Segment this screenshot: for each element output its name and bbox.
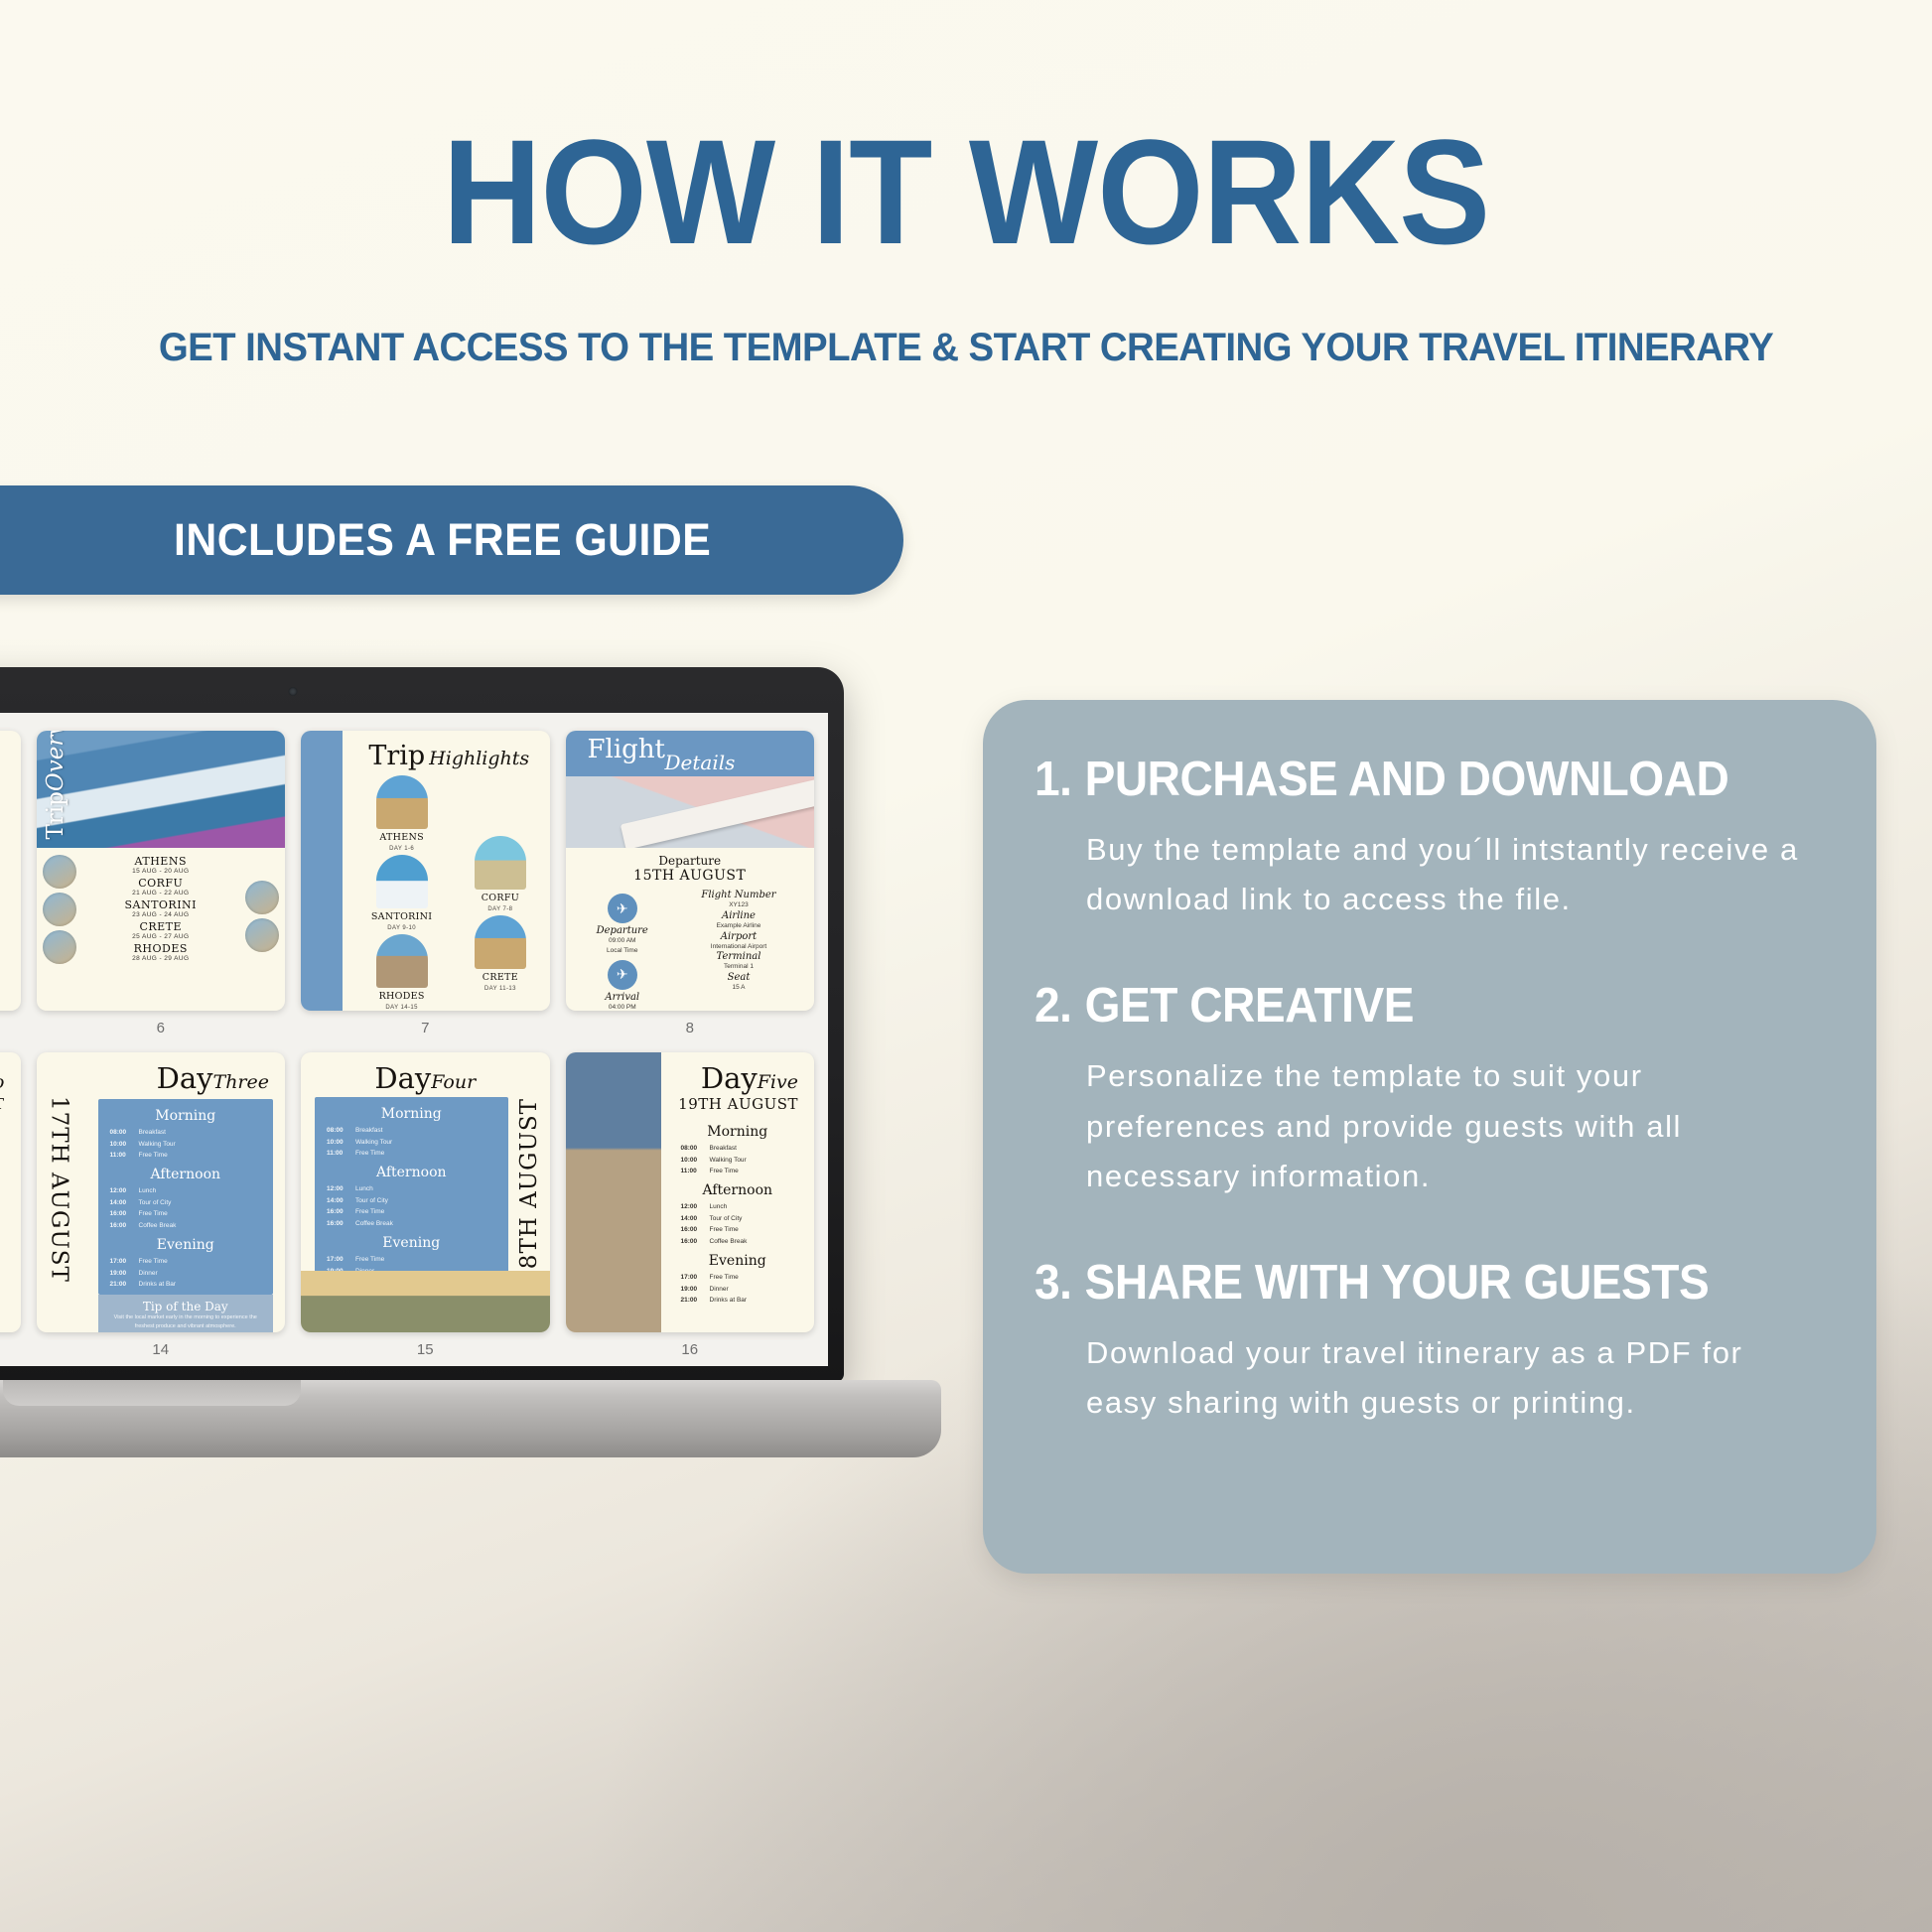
schedule-row: 12:00Lunch [675,1201,801,1213]
field-label: Flight Number [671,890,806,900]
schedule-activity: Free Time [355,1206,384,1218]
thumbnail-cell[interactable]: DayFour 18TH AUGUST Morning 08:00Breakfa… [301,1052,550,1366]
template-thumbnail-grid: GREECE Travel Itinerary 15 AUG - 29 AUG … [0,713,828,1366]
template-page-day-four[interactable]: DayFour 18TH AUGUST Morning 08:00Breakfa… [301,1052,550,1332]
destination-photo-icon [43,855,76,889]
laptop-base-notch [3,1380,301,1406]
highlight-name: RHODES [379,991,425,1002]
schedule-activity: Free Time [355,1254,384,1266]
destination-dates: 28 AUG - 29 AUG [76,955,246,962]
schedule-activity: Coffee Break [139,1220,177,1232]
step-1-body: Buy the template and you´ll intstantly r… [1086,825,1821,924]
webcam-icon [289,687,298,696]
schedule-row: 16:00Coffee Break [0,1236,7,1248]
schedule-activity: Breakfast [355,1125,382,1137]
highlight-photo [475,836,526,890]
destination-names: ATHENS 15 AUG - 20 AUG CORFU 21 AUG - 22… [76,855,246,964]
cover-title: GREECE [0,743,21,778]
highlight-name: CORFU [482,893,519,903]
laptop-screen: GREECE Travel Itinerary 15 AUG - 29 AUG … [0,713,828,1366]
schedule-time: 08:00 [681,1143,701,1155]
highlight-photo [376,855,428,908]
section-heading: Afternoon [675,1182,801,1198]
highlight-name: CRETE [483,972,518,983]
destination-photo-icon [245,881,279,914]
template-page-trip-overview[interactable]: TripOverview ATHENS 15 AUG - 20 [37,731,286,1011]
schedule-row: 16:00Coffee Break [321,1218,502,1230]
schedule-row: 19:00Dinner [104,1268,268,1280]
destination-photo-icon [43,893,76,926]
schedule-time: 10:00 [110,1139,130,1151]
tip-of-the-day: Tip of the Day Visit the local market ea… [98,1295,274,1332]
day-schedule: Morning 08:00Breakfast 10:00Walking Tour… [0,1113,21,1307]
schedule-row: 16:00Coffee Break [104,1220,268,1232]
schedule-time: 08:00 [110,1127,130,1139]
schedule-time: 10:00 [327,1137,346,1149]
day-label: Day [374,1061,431,1095]
schedule-row: 19:00Dinner [675,1284,801,1296]
highlight-days: DAY 14-15 [385,1005,417,1011]
schedule-activity: Lunch [139,1185,157,1197]
flight-header: Flight Details [566,731,815,776]
overview-title-script: Overview [43,731,69,792]
schedule-row: 10:00Walking Tour [321,1137,502,1149]
day-schedule: Morning 08:00Breakfast 10:00Walking Tour… [661,1113,815,1307]
overview-photo: TripOverview [37,731,286,848]
page-number: 8 [686,1020,694,1036]
day-date: 16TH AUGUST [0,1095,21,1113]
day-date: 19TH AUGUST [661,1095,815,1113]
destination-name: CORFU [76,877,246,890]
schedule-row: 10:00Walking Tour [104,1139,268,1151]
laptop-lid: GREECE Travel Itinerary 15 AUG - 29 AUG … [0,667,844,1382]
day-label: Day [701,1061,758,1095]
schedule-activity: Dinner [710,1284,729,1296]
highlight-photo [376,934,428,988]
thumbnail-cell[interactable]: Flight Details Departure 15TH AUGUST ✈ D… [566,731,815,1048]
cover-subtitle: Travel Itinerary [0,965,21,989]
schedule-row: 17:00Free Time [0,1272,7,1284]
cover-date-range: 15 AUG - 29 AUG [0,992,21,1002]
schedule-activity: Drinks at Bar [710,1295,748,1307]
flight-title-main: Flight [588,735,666,764]
schedule-row: 19:00Dinner [0,1284,7,1296]
schedule-time: 17:00 [110,1256,130,1268]
page-header: HOW IT WORKS GET INSTANT ACCESS TO THE T… [0,0,1932,370]
page-number: 15 [417,1341,434,1358]
schedule-activity: Drinks at Bar [139,1279,177,1291]
thumbnail-cell[interactable]: TripHighlights ATHENS DAY 1-6 SANTORINI … [301,731,550,1048]
schedule-activity: Free Time [710,1272,739,1284]
highlight-days: DAY 7-8 [487,906,512,912]
highlight-days: DAY 11-13 [484,986,516,992]
schedule-time: 21:00 [110,1279,130,1291]
day-heading: DayFour [301,1052,550,1095]
schedule-time: 11:00 [110,1150,130,1162]
schedule-time: 08:00 [327,1125,346,1137]
field-value: International Airport [671,942,806,952]
highlights-title-main: Trip [368,741,425,771]
thumbnail-cell[interactable]: GREECE Travel Itinerary 15 AUG - 29 AUG … [0,731,21,1048]
day-label: Day [157,1061,213,1095]
section-heading: Evening [104,1237,268,1253]
schedule-row: 08:00Breakfast [321,1125,502,1137]
schedule-time: 12:00 [110,1185,130,1197]
schedule-time: 11:00 [327,1148,346,1160]
field-value: XY123 [671,900,806,910]
tip-title: Tip of the Day [106,1300,266,1313]
field-value-secondary: Local Time [574,946,671,956]
laptop-mockup: GREECE Travel Itinerary 15 AUG - 29 AUG … [0,667,903,1660]
day-date: 18TH AUGUST [516,1098,542,1285]
schedule-activity: Free Time [355,1148,384,1160]
section-heading: Evening [675,1253,801,1269]
airplane-departure-icon: ✈ [608,894,637,923]
highlights-column-left: ATHENS DAY 1-6 SANTORINI DAY 9-10 RHODES… [352,775,451,1011]
step-2-title: GET CREATIVE [1085,978,1414,1034]
schedule-time: 11:00 [681,1166,701,1177]
departure-date: 15TH AUGUST [566,868,815,884]
schedule-time: 16:00 [327,1206,346,1218]
airplane-arrival-icon: ✈ [608,960,637,990]
highlight-name: ATHENS [379,832,424,843]
day-heading: DayThree [96,1052,286,1095]
section-heading: Morning [0,1124,7,1140]
overview-title-main: Trip [43,792,69,840]
day-ordinal: Four [431,1071,476,1093]
section-heading: Morning [104,1108,268,1124]
schedule-activity: Walking Tour [710,1155,747,1167]
step-2: 2. GET CREATIVE Personalize the template… [1035,978,1827,1201]
highlight-days: DAY 1-6 [389,846,414,852]
schedule-activity: Coffee Break [355,1218,393,1230]
schedule-activity: Breakfast [710,1143,737,1155]
section-heading: Afternoon [321,1165,502,1180]
destination-dates: 21 AUG - 22 AUG [76,890,246,897]
schedule-row: 12:00Lunch [104,1185,268,1197]
step-1-heading: 1. PURCHASE AND DOWNLOAD [1035,752,1779,807]
step-2-number: 2. [1035,978,1071,1034]
schedule-time: 16:00 [681,1236,701,1248]
schedule-activity: Dinner [139,1268,158,1280]
schedule-time: 12:00 [681,1201,701,1213]
schedule-activity: Free Time [710,1224,739,1236]
schedule-row: 08:00Breakfast [0,1143,7,1155]
flight-left-column: ✈ Departure 09:00 AM Local Time ✈ Arriva… [574,890,671,1011]
day-date: 17TH AUGUST [47,1096,72,1283]
schedule-row: 17:00Free Time [104,1256,268,1268]
schedule-time: 19:00 [110,1268,130,1280]
schedule-time: 14:00 [110,1197,130,1209]
schedule-row: 17:00Free Time [321,1254,502,1266]
field-label: Terminal [671,951,806,962]
overview-thumb-column-right [245,881,279,952]
page-number: 6 [157,1020,165,1036]
step-2-body: Personalize the template to suit your pr… [1086,1051,1821,1201]
schedule-row: 11:00Free Time [0,1166,7,1177]
template-page-trip-highlights[interactable]: TripHighlights ATHENS DAY 1-6 SANTORINI … [301,731,550,1011]
section-heading: Morning [321,1106,502,1122]
schedule-row: 21:00Drinks at Bar [104,1279,268,1291]
field-value: 15 A [671,983,806,993]
destination-dates: 25 AUG - 27 AUG [76,933,246,940]
schedule-row: 11:00Free Time [104,1150,268,1162]
template-page-cover[interactable]: GREECE Travel Itinerary 15 AUG - 29 AUG [0,731,21,1011]
schedule-row: 16:00Free Time [675,1224,801,1236]
thumbnail-cell[interactable]: DayThree 17TH AUGUST Morning 08:00Breakf… [37,1052,286,1366]
destination-dates: 15 AUG - 20 AUG [76,868,246,875]
overview-title: TripOverview [43,731,69,840]
schedule-activity: Free Time [139,1256,168,1268]
schedule-row: 16:00Coffee Break [675,1236,801,1248]
field-label: Airport [671,931,806,942]
flight-title-script: Details [665,751,736,774]
step-3-number: 3. [1035,1255,1071,1311]
overview-thumb-column-left [43,855,76,964]
free-guide-label: INCLUDES A FREE GUIDE [174,514,711,566]
section-heading: Evening [0,1253,7,1269]
step-3-heading: 3. SHARE WITH YOUR GUESTS [1035,1255,1779,1311]
highlights-title: TripHighlights [348,741,550,771]
section-heading: Afternoon [0,1182,7,1198]
schedule-time: 19:00 [681,1284,701,1296]
destination-photo-icon [245,918,279,952]
destination-name: RHODES [76,942,246,955]
schedule-time: 21:00 [681,1295,701,1307]
section-heading: Afternoon [104,1167,268,1182]
how-it-works-steps-panel: 1. PURCHASE AND DOWNLOAD Buy the templat… [983,700,1876,1574]
schedule-time: 16:00 [327,1218,346,1230]
schedule-row: 17:00Free Time [675,1272,801,1284]
day-heading: DayTwo [0,1052,21,1095]
schedule-activity: Free Time [139,1208,168,1220]
flight-fields: ✈ Departure 09:00 AM Local Time ✈ Arriva… [566,890,815,1011]
free-guide-banner: INCLUDES A FREE GUIDE [0,485,903,595]
schedule-row: 14:00Tour of City [0,1213,7,1225]
template-page-flight-details[interactable]: Flight Details Departure 15TH AUGUST ✈ D… [566,731,815,1011]
field-label: Arrival [574,992,671,1003]
schedule-activity: Free Time [710,1166,739,1177]
schedule-row: 10:00Walking Tour [675,1155,801,1167]
airplane-wing-photo [566,776,815,848]
day-ordinal: Three [213,1071,269,1093]
page-number: 14 [152,1341,169,1358]
field-label: Departure [574,925,671,936]
field-label: Seat [671,972,806,983]
step-3: 3. SHARE WITH YOUR GUESTS Download your … [1035,1255,1827,1428]
schedule-row: 12:00Lunch [321,1183,502,1195]
template-page-day-five[interactable]: DayFive 19TH AUGUST Morning 08:00Breakfa… [566,1052,815,1332]
highlight-days: DAY 9-10 [387,925,416,931]
schedule-activity: Free Time [139,1150,168,1162]
page-number: 16 [681,1341,698,1358]
schedule-row: 10:00Walking Tour [0,1155,7,1167]
section-heading: Morning [675,1124,801,1140]
schedule-row: 16:00Free Time [104,1208,268,1220]
page-subtitle: GET INSTANT ACCESS TO THE TEMPLATE & STA… [39,326,1893,370]
thumbnail-cell[interactable]: TripOverview ATHENS 15 AUG - 20 [37,731,286,1048]
day-photo [301,1271,550,1332]
destination-photo-icon [43,930,76,964]
highlights-grid: ATHENS DAY 1-6 SANTORINI DAY 9-10 RHODES… [352,775,550,1011]
template-page-day-two[interactable]: DayTwo 16TH AUGUST Morning 08:00Breakfas… [0,1052,21,1332]
step-3-title: SHARE WITH YOUR GUESTS [1085,1255,1710,1311]
schedule-activity: Tour of City [710,1213,743,1225]
schedule-row: 11:00Free Time [675,1166,801,1177]
destination-name: ATHENS [76,855,246,868]
schedule-activity: Breakfast [139,1127,166,1139]
field-value: Terminal 1 [671,962,806,972]
laptop-base [0,1380,941,1457]
step-1-title: PURCHASE AND DOWNLOAD [1085,752,1729,807]
schedule-activity: Tour of City [355,1195,388,1207]
destination-name: CRETE [76,920,246,933]
day-photo [566,1052,661,1332]
highlights-column-right: CORFU DAY 7-8 CRETE DAY 11-13 [451,775,549,1011]
flight-right-column: Flight Number XY123 Airline Example Airl… [671,890,806,1011]
destination-name: SANTORINI [76,898,246,911]
page-title: HOW IT WORKS [77,117,1855,266]
tip-body: Visit the local market early in the morn… [106,1313,266,1331]
destination-list: ATHENS 15 AUG - 20 AUG CORFU 21 AUG - 22… [37,848,286,971]
field-value: Example Airline [671,921,806,931]
schedule-row: 14:00Tour of City [321,1195,502,1207]
section-heading: Evening [321,1235,502,1251]
schedule-activity: Coffee Break [710,1236,748,1248]
schedule-row: 16:00Free Time [321,1206,502,1218]
step-3-body: Download your travel itinerary as a PDF … [1086,1328,1821,1428]
schedule-row: 14:00Tour of City [675,1213,801,1225]
accent-rail [301,731,343,1011]
schedule-time: 16:00 [681,1224,701,1236]
day-ordinal: Five [758,1071,798,1093]
step-1-number: 1. [1035,752,1071,807]
thumbnail-cell[interactable]: DayFive 19TH AUGUST Morning 08:00Breakfa… [566,1052,815,1366]
step-2-heading: 2. GET CREATIVE [1035,978,1779,1034]
schedule-time: 16:00 [110,1208,130,1220]
schedule-time: 16:00 [110,1220,130,1232]
schedule-row: 16:00Free Time [0,1224,7,1236]
schedule-time: 14:00 [681,1213,701,1225]
schedule-time: 17:00 [681,1272,701,1284]
day-schedule: Morning 08:00Breakfast 10:00Walking Tour… [98,1099,274,1295]
schedule-time: 17:00 [327,1254,346,1266]
schedule-row: 14:00Tour of City [104,1197,268,1209]
schedule-activity: Walking Tour [355,1137,392,1149]
schedule-time: 10:00 [681,1155,701,1167]
schedule-row: 08:00Breakfast [104,1127,268,1139]
page-number: 7 [421,1020,429,1036]
field-value: 09:00 AM [574,936,671,946]
schedule-time: 14:00 [327,1195,346,1207]
schedule-row: 21:00Drinks at Bar [0,1295,7,1307]
highlight-photo [475,915,526,969]
schedule-row: 12:00Lunch [0,1201,7,1213]
schedule-time: 12:00 [327,1183,346,1195]
schedule-activity: Lunch [355,1183,373,1195]
destination-dates: 23 AUG - 24 AUG [76,911,246,918]
template-page-day-three[interactable]: DayThree 17TH AUGUST Morning 08:00Breakf… [37,1052,286,1332]
schedule-row: 11:00Free Time [321,1148,502,1160]
day-schedule: Morning 08:00Breakfast 10:00Walking Tour… [315,1097,508,1293]
departure-label: Departure [566,854,815,868]
schedule-activity: Walking Tour [139,1139,176,1151]
field-value: 04:00 PM [574,1003,671,1012]
schedule-row: 21:00Drinks at Bar [675,1295,801,1307]
highlight-photo [376,775,428,829]
schedule-activity: Tour of City [139,1197,172,1209]
step-1: 1. PURCHASE AND DOWNLOAD Buy the templat… [1035,752,1827,924]
schedule-activity: Lunch [710,1201,728,1213]
schedule-row: 08:00Breakfast [675,1143,801,1155]
field-label: Airline [671,910,806,921]
day-ordinal: Two [0,1071,5,1093]
day-heading: DayFive [661,1052,815,1095]
highlight-name: SANTORINI [371,911,432,922]
highlights-title-script: Highlights [429,748,529,769]
thumbnail-cell[interactable]: DayTwo 16TH AUGUST Morning 08:00Breakfas… [0,1052,21,1366]
